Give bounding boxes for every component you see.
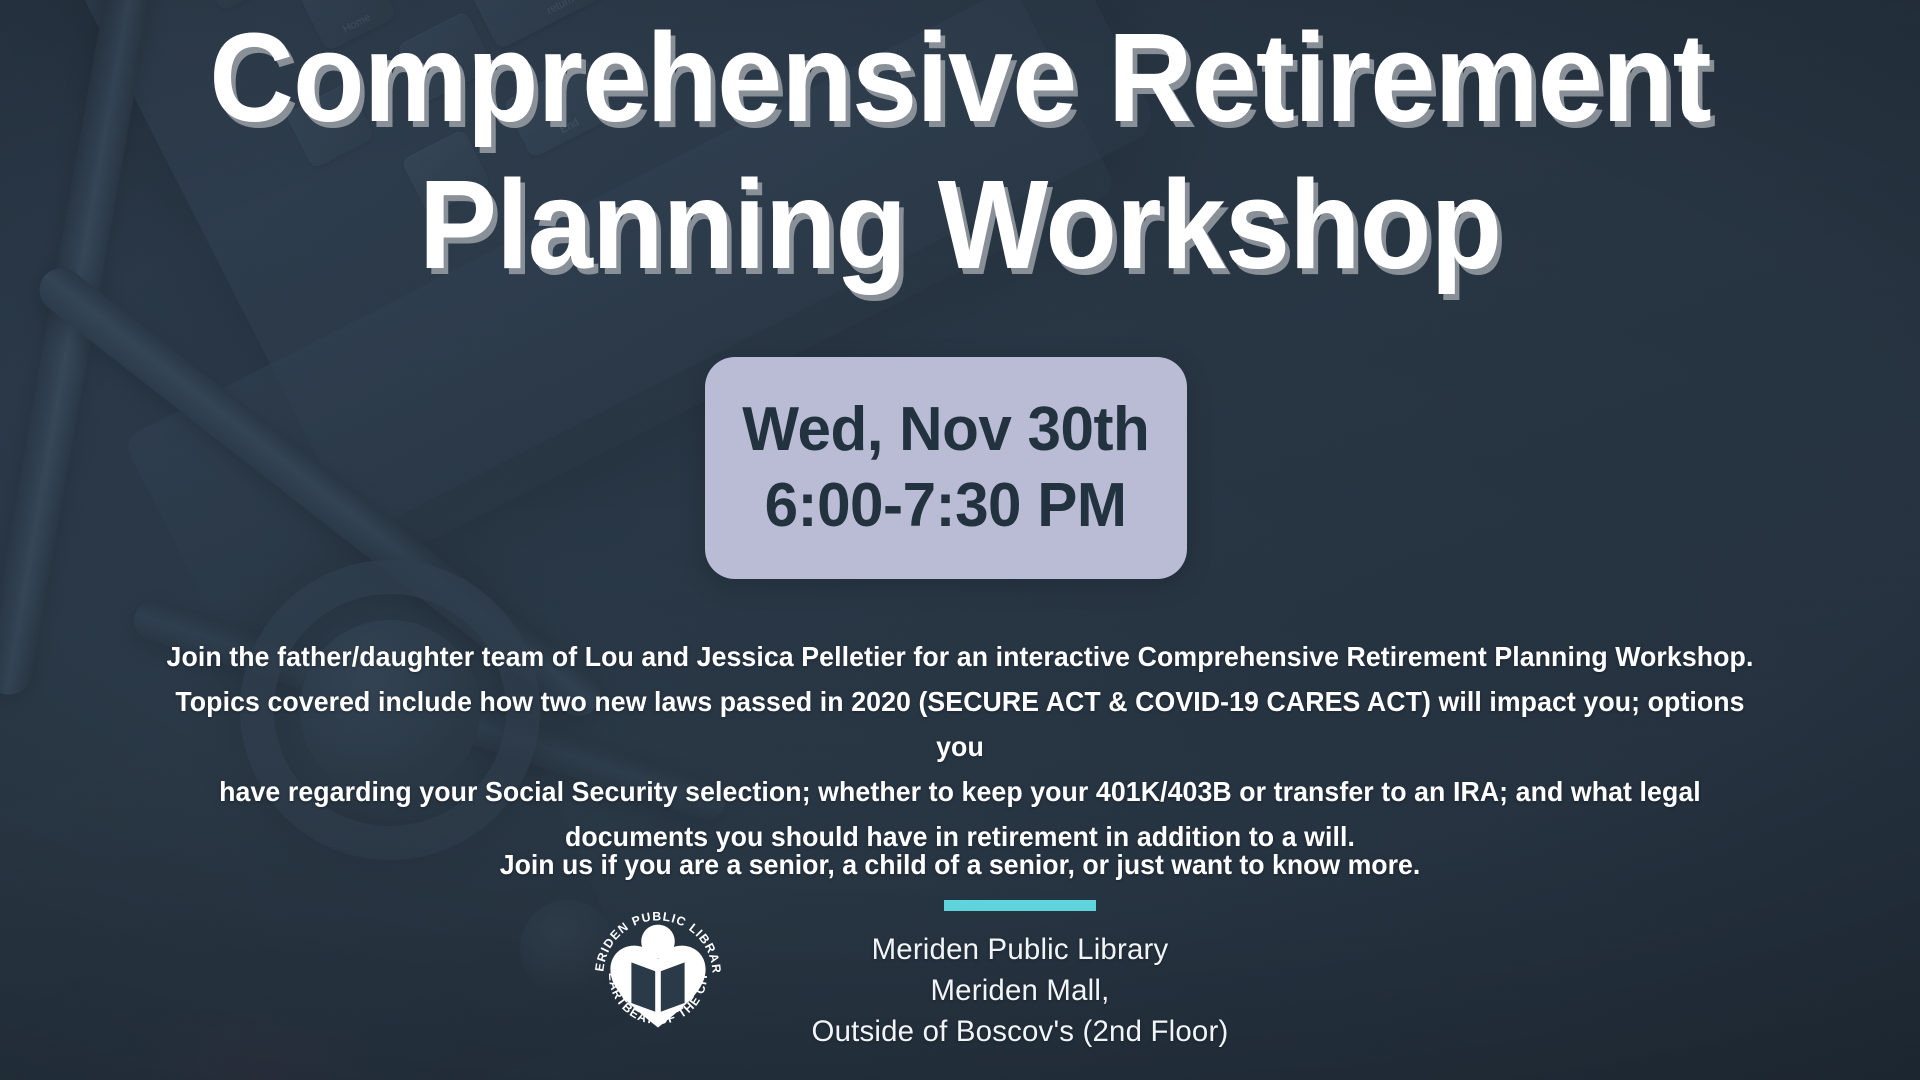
description-line-1: Join the father/daughter team of Lou and… <box>155 634 1765 679</box>
date-time-badge: Wed, Nov 30th 6:00-7:30 PM <box>705 357 1187 579</box>
page-title: Comprehensive Retirement Planning Worksh… <box>67 4 1853 299</box>
accent-divider <box>944 900 1096 911</box>
description-line-3: have regarding your Social Security sele… <box>155 769 1765 814</box>
venue-name: Meriden Public Library <box>765 929 1275 970</box>
event-time: 6:00-7:30 PM <box>765 470 1127 542</box>
event-flyer: option alt delete Home enter return End … <box>0 0 1920 1080</box>
title-line-1: Comprehensive Retirement <box>67 4 1853 151</box>
library-logo: MERIDEN PUBLIC LIBRARY HEARTBEAT OF THE … <box>588 905 728 1045</box>
venue-location-detail: Outside of Boscov's (2nd Floor) <box>765 1011 1275 1052</box>
event-date: Wed, Nov 30th <box>743 394 1150 466</box>
venue-address: Meriden Mall, <box>765 970 1275 1011</box>
audience-call-to-action: Join us if you are a senior, a child of … <box>155 845 1765 885</box>
title-line-2: Planning Workshop <box>67 151 1853 298</box>
description-line-2: Topics covered include how two new laws … <box>155 679 1765 769</box>
event-description: Join the father/daughter team of Lou and… <box>155 634 1765 859</box>
venue-info: Meriden Public Library Meriden Mall, Out… <box>760 900 1280 1052</box>
